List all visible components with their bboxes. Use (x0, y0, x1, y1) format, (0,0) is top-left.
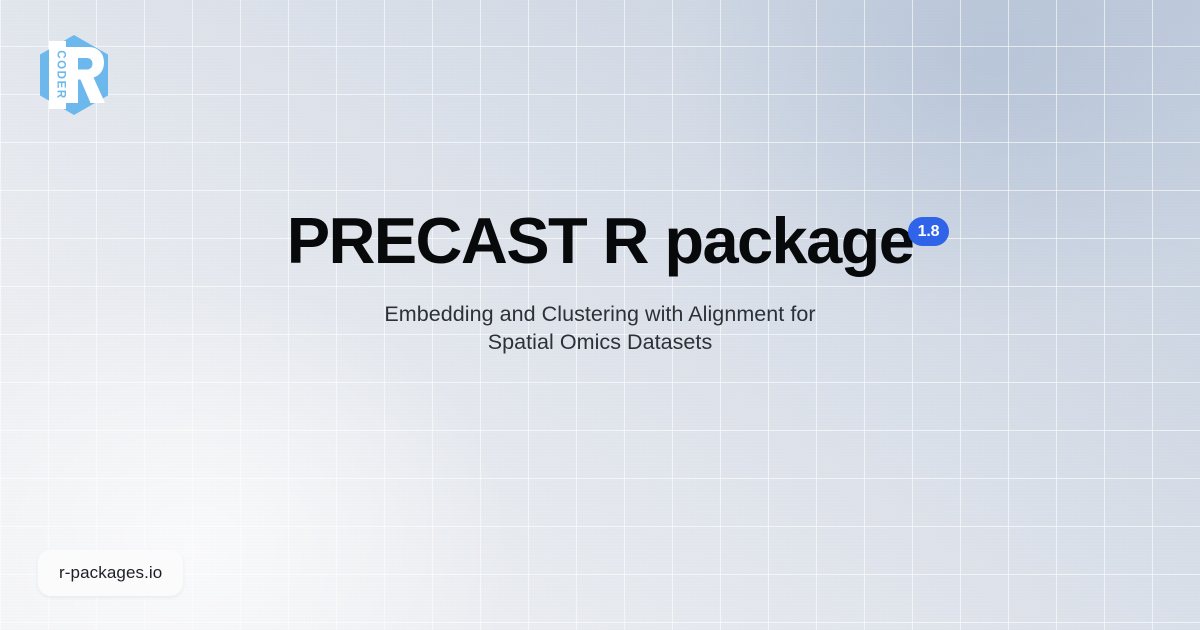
svg-text:CODER: CODER (55, 50, 67, 100)
r-coder-hexagon-logo[interactable]: CODER (38, 33, 110, 117)
page-subtitle: Embedding and Clustering with Alignment … (0, 300, 1200, 356)
site-domain-label: r-packages.io (59, 563, 162, 583)
site-domain-pill[interactable]: r-packages.io (38, 550, 183, 596)
page-subtitle-line-2: Spatial Omics Datasets (0, 328, 1200, 356)
page-subtitle-line-1: Embedding and Clustering with Alignment … (0, 300, 1200, 328)
title-row: PRECAST R package 1.8 (287, 208, 914, 273)
og-card: CODER PRECAST R package 1.8 Embedding an… (0, 0, 1200, 630)
page-title: PRECAST R package (287, 208, 914, 273)
hero-block: PRECAST R package 1.8 Embedding and Clus… (0, 208, 1200, 356)
version-badge: 1.8 (908, 217, 950, 246)
